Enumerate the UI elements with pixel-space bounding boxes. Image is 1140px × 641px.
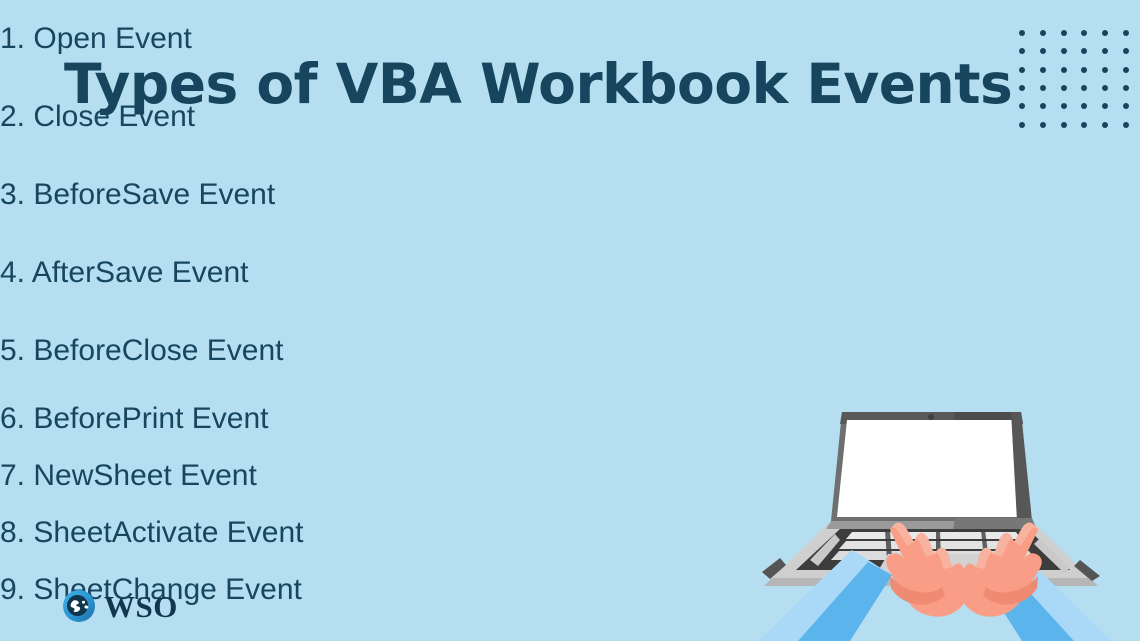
list-item: 5. BeforeClose Event (0, 312, 1140, 390)
grid-dot (1081, 67, 1087, 73)
grid-dot (1019, 103, 1025, 109)
grid-dot (1040, 67, 1046, 73)
grid-dot (1061, 122, 1067, 128)
grid-dot (1061, 30, 1067, 36)
grid-dot (1081, 30, 1087, 36)
grid-dot (1123, 85, 1129, 91)
grid-dot (1061, 103, 1067, 109)
grid-dot (1081, 85, 1087, 91)
grid-dot (1081, 103, 1087, 109)
grid-dot (1040, 48, 1046, 54)
grid-dot (1102, 67, 1108, 73)
grid-dot (1040, 30, 1046, 36)
grid-dot (1061, 48, 1067, 54)
slide-canvas: Types of VBA Workbook Events 1. Open Eve… (0, 0, 1140, 641)
grid-dot (1102, 30, 1108, 36)
grid-dot (1019, 67, 1025, 73)
grid-dot (1019, 48, 1025, 54)
grid-dot (1123, 48, 1129, 54)
wso-wordmark: WSO (104, 591, 178, 622)
grid-dot (1102, 85, 1108, 91)
dot-grid-pattern-icon (1012, 24, 1136, 134)
page-title: Types of VBA Workbook Events (64, 52, 1012, 116)
grid-dot (1123, 30, 1129, 36)
grid-dot (1102, 103, 1108, 109)
list-item: 4. AfterSave Event (0, 234, 1140, 312)
grid-dot (1123, 67, 1129, 73)
grid-dot (1061, 67, 1067, 73)
grid-dot (1040, 85, 1046, 91)
grid-dot (1040, 122, 1046, 128)
grid-dot (1019, 30, 1025, 36)
grid-dot (1081, 48, 1087, 54)
grid-dot (1102, 122, 1108, 128)
grid-dot (1019, 122, 1025, 128)
grid-dot (1102, 48, 1108, 54)
grid-dot (1081, 122, 1087, 128)
grid-dot (1123, 122, 1129, 128)
laptop-with-hands-typing-illustration (740, 390, 1140, 641)
globe-icon (62, 589, 96, 623)
laptop-lid (831, 412, 1032, 521)
grid-dot (1019, 85, 1025, 91)
list-item: 3. BeforeSave Event (0, 156, 1140, 234)
grid-dot (1123, 103, 1129, 109)
wso-logo[interactable]: WSO (62, 589, 178, 623)
laptop-screen (837, 420, 1026, 517)
grid-dot (1040, 103, 1046, 109)
grid-dot (1061, 85, 1067, 91)
